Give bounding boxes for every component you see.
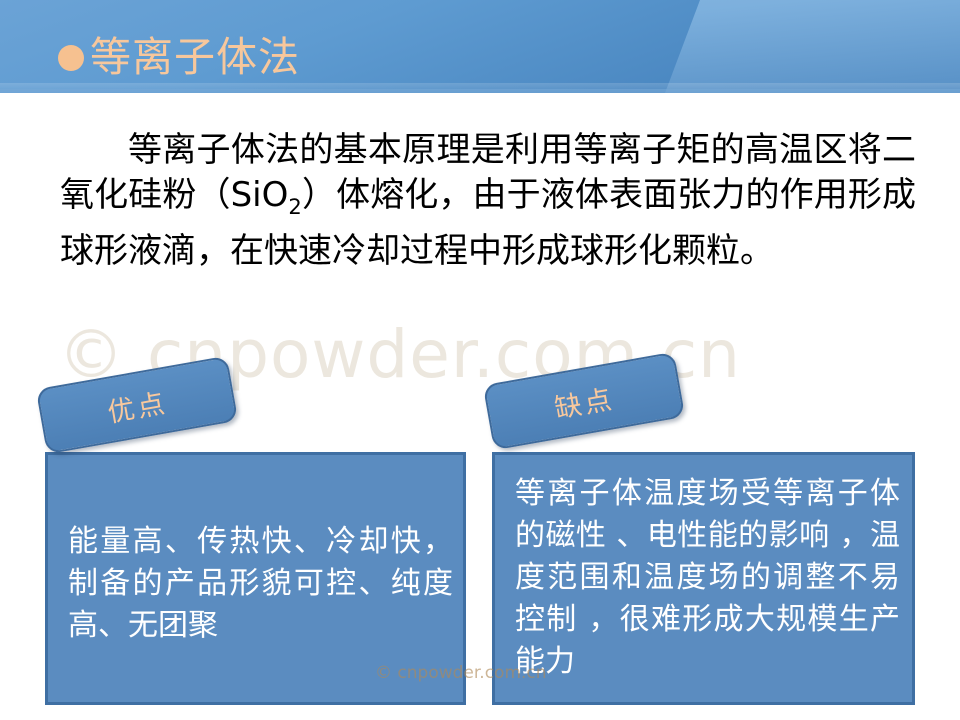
slide-canvas: 等离子体法 © cnpowder.com.cn 等离子体法的基本原理是利用等离子…	[0, 0, 960, 720]
body-paragraph: 等离子体法的基本原理是利用等离子矩的高温区将二氧化硅粉（SiO2）体熔化，由于液…	[60, 128, 916, 274]
tab-advantages-label: 优点	[104, 381, 170, 430]
advantages-box-text: 能量高、传热快、冷却快，制备的产品形貌可控、纯度高、无团聚	[68, 521, 453, 647]
watermark-small: © cnpowder.com.cn	[375, 663, 547, 683]
tab-disadvantages-label: 缺点	[551, 377, 617, 426]
header-bottom-strip	[0, 89, 960, 93]
bullet-circle-icon	[58, 45, 84, 71]
disadvantages-box: 等离子体温度场受等离子体的磁性 、电性能的影响 ，温度范围和温度场的调整不易控制…	[492, 452, 915, 705]
paragraph-subscript: 2	[288, 194, 301, 219]
disadvantages-box-text: 等离子体温度场受等离子体的磁性 、电性能的影响 ，温度范围和温度场的调整不易控制…	[515, 473, 900, 683]
page-title-text: 等离子体法	[90, 36, 300, 79]
page-title: 等离子体法	[58, 36, 300, 79]
